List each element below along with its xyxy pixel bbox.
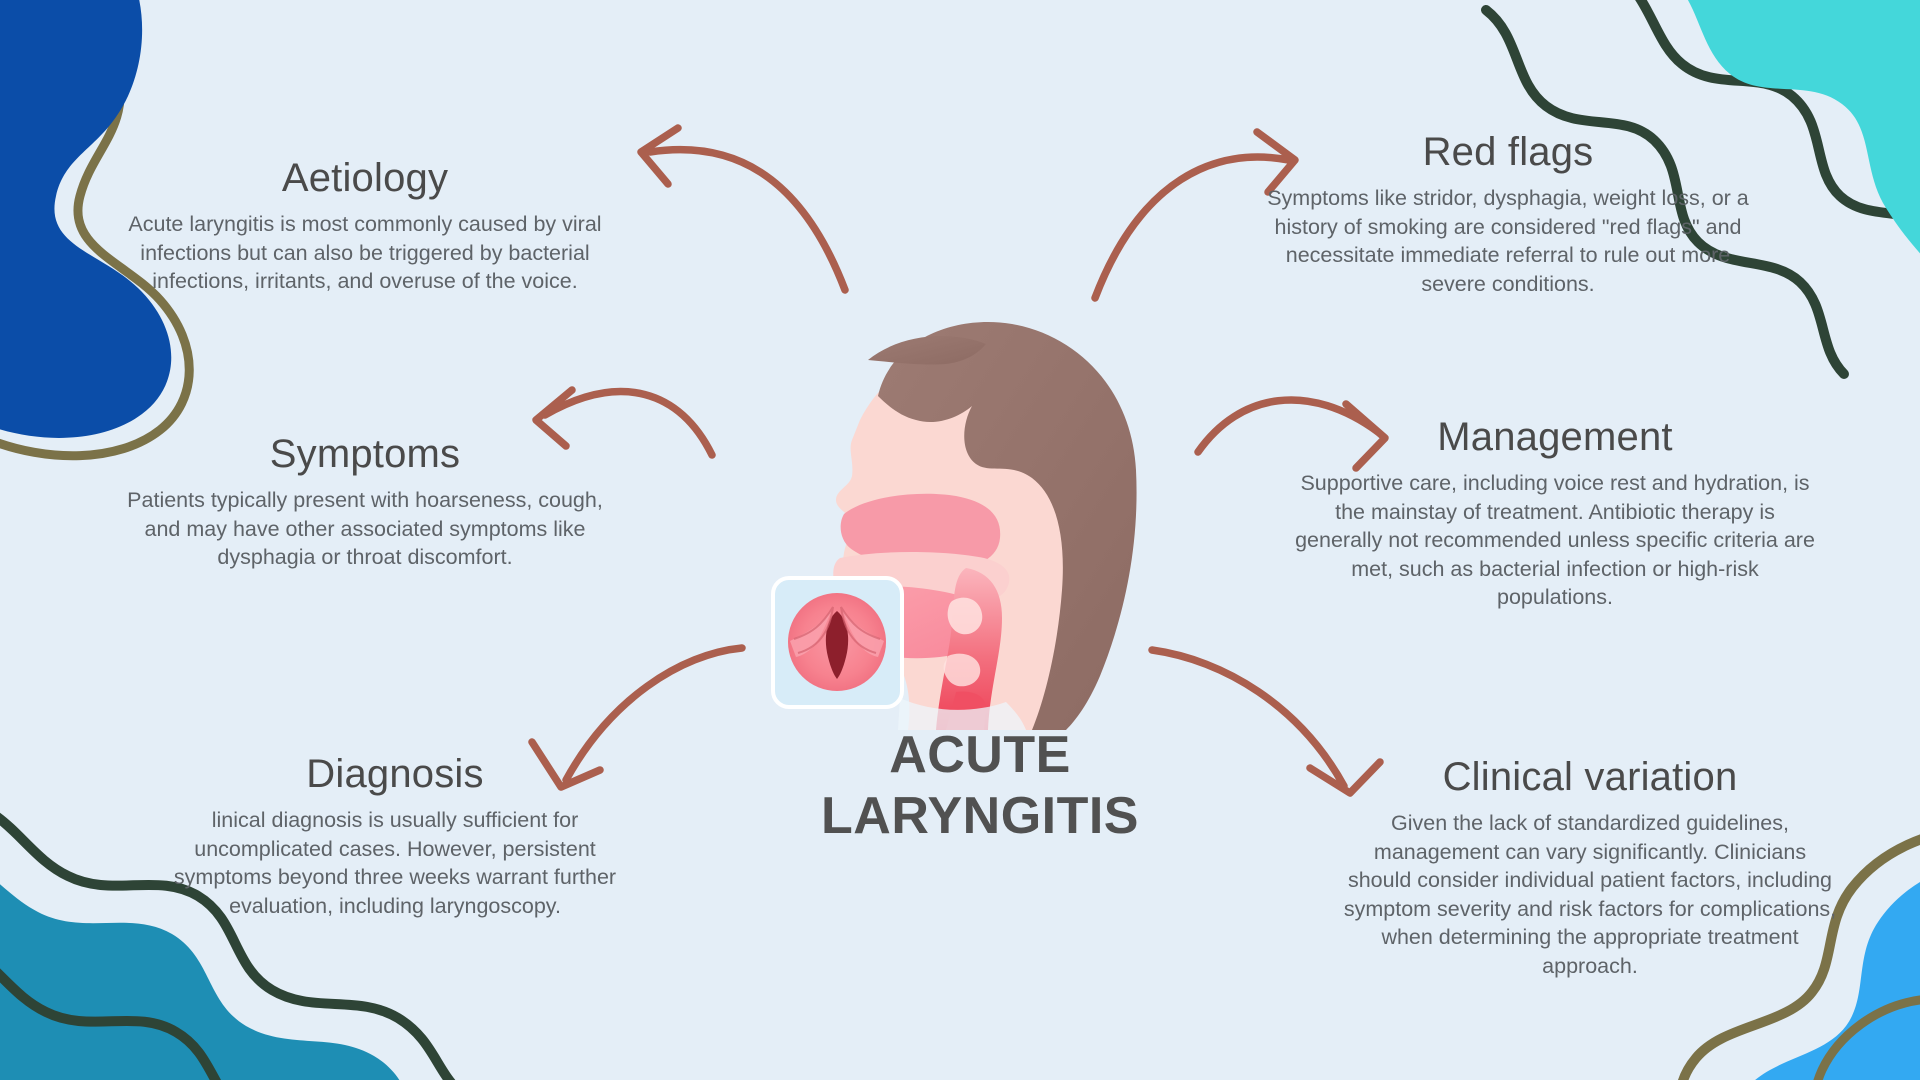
section-aetiology: Aetiology Acute laryngitis is most commo…: [120, 156, 610, 296]
arrow-to-aetiology: [641, 128, 845, 290]
blob-bottom-right-outline-2: [1814, 1000, 1920, 1080]
centre-title: ACUTE LARYNGITIS: [700, 725, 1260, 848]
section-body-aetiology: Acute laryngitis is most commonly caused…: [120, 210, 610, 296]
section-title-symptoms: Symptoms: [120, 432, 610, 476]
section-red-flags: Red flags Symptoms like stridor, dysphag…: [1258, 130, 1758, 298]
section-title-red-flags: Red flags: [1258, 130, 1758, 174]
section-diagnosis: Diagnosis linical diagnosis is usually s…: [150, 752, 640, 920]
section-management: Management Supportive care, including vo…: [1295, 415, 1815, 612]
section-body-symptoms: Patients typically present with hoarsene…: [120, 486, 610, 572]
section-body-red-flags: Symptoms like stridor, dysphagia, weight…: [1258, 184, 1758, 298]
section-body-clinical-variation: Given the lack of standardized guideline…: [1340, 809, 1840, 981]
section-title-management: Management: [1295, 415, 1815, 459]
section-title-clinical-variation: Clinical variation: [1340, 755, 1840, 799]
infographic-canvas: ACUTE LARYNGITIS Aetiology Acute laryngi…: [0, 0, 1920, 1080]
centre-title-line-1: ACUTE: [700, 725, 1260, 786]
section-title-aetiology: Aetiology: [120, 156, 610, 200]
section-body-management: Supportive care, including voice rest an…: [1295, 469, 1815, 612]
section-symptoms: Symptoms Patients typically present with…: [120, 432, 610, 572]
centre-title-line-2: LARYNGITIS: [700, 786, 1260, 847]
section-title-diagnosis: Diagnosis: [150, 752, 640, 796]
section-body-diagnosis: linical diagnosis is usually sufficient …: [150, 806, 640, 920]
laryngoscopy-inset: [770, 575, 905, 710]
section-clinical-variation: Clinical variation Given the lack of sta…: [1340, 755, 1840, 981]
blob-bottom-left-outline-2: [0, 940, 248, 1080]
